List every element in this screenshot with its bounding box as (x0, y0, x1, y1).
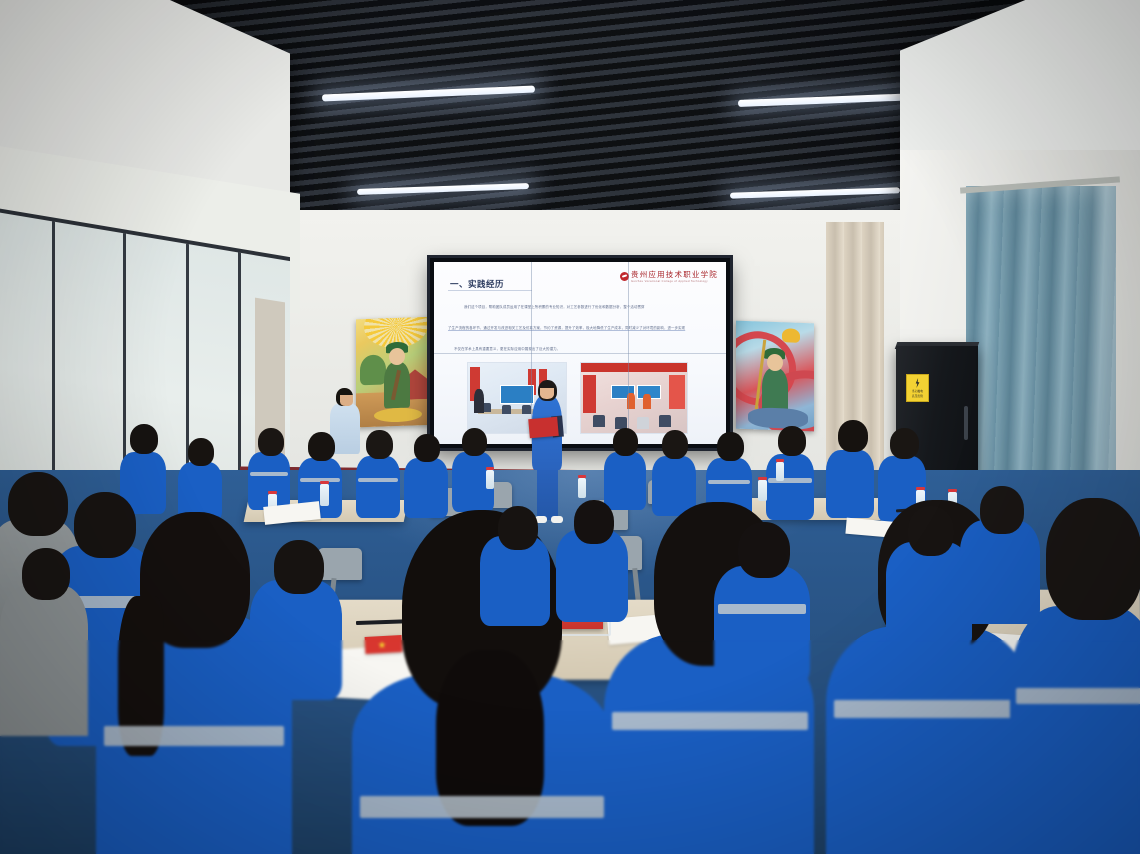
slide-title: 一、实践经历 (450, 278, 504, 290)
warning-line-2: 高压危险 (912, 394, 923, 398)
painting-soldier-left (356, 317, 438, 428)
painting-soldier-right (736, 321, 814, 432)
presentation-slide: 一、实践经历 贵州应用技术职业学院 Guizhou Vocational Col… (434, 262, 726, 444)
presenter-shoe-right (551, 516, 563, 523)
panel-seam-horizontal (434, 353, 726, 354)
classroom-photo: 一、实践经历 贵州应用技术职业学院 Guizhou Vocational Col… (0, 0, 1140, 854)
instructor-face (340, 395, 353, 406)
school-name-en: Guizhou Vocational College of Applied Te… (631, 280, 718, 283)
slide-photo-2 (580, 362, 688, 434)
presenter-red-folder (528, 417, 559, 438)
school-logo: 贵州应用技术职业学院 Guizhou Vocational College of… (620, 269, 718, 283)
school-name-cn: 贵州应用技术职业学院 (631, 269, 718, 280)
water-bottle-4 (578, 478, 586, 498)
slide-body-line-3: 不仅在学术上具有重要意义，更在实际应用中展现出了巨大的潜力。 (454, 346, 560, 351)
water-bottle-6 (776, 462, 784, 481)
slide-body-line-1: 我们这个项目，帮助团队成员运用了在课堂上所积累的专业知识，对工艺参数进行了优化和… (464, 304, 645, 309)
high-voltage-warning-label: 当心触电 高压危险 (906, 374, 929, 402)
presenter-legs (537, 462, 558, 520)
slide-body-line-2: 了生产流程的各环节，通过开发与改进相关工艺及仿真方案，节约了资源，提升了效率，极… (448, 325, 685, 330)
high-voltage-icon (915, 378, 921, 388)
presenter-face (540, 388, 554, 399)
cabinet-handle[interactable] (964, 406, 968, 440)
water-bottle-1 (320, 484, 329, 506)
video-wall-display[interactable]: 一、实践经历 贵州应用技术职业学院 Guizhou Vocational Col… (430, 258, 730, 448)
water-bottle-5 (758, 480, 767, 501)
chair-mid-1[interactable] (318, 548, 362, 580)
water-bottle-3 (486, 470, 494, 489)
warning-line-1: 当心触电 (912, 389, 923, 393)
slide-title-rule (448, 290, 532, 291)
curtain-teal (966, 186, 1116, 516)
